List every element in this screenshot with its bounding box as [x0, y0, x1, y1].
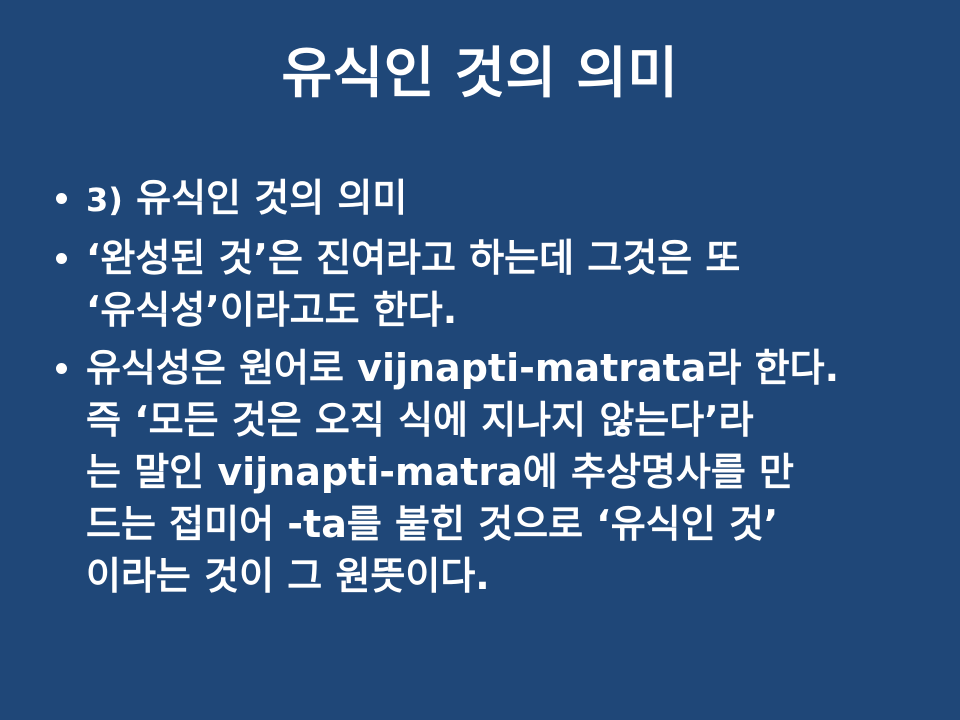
bullet-item-3-content: 유식성은 원어로 vijnapti-matrata라 한다. 즉 ‘모든 것은 …	[86, 342, 920, 602]
bullet-dot-icon	[56, 193, 67, 204]
bullet-dot-icon	[56, 363, 67, 374]
presentation-slide: 유식인 것의 의미 3) 유식인 것의 의미 ‘완성된 것’은 진여라고 하는데…	[0, 0, 960, 720]
bullet-item-2-line-2: ‘유식성’이라고도 한다.	[86, 284, 920, 336]
bullet-item-3-line-3: 는 말인 vijnapti-matra에 추상명사를 만	[86, 446, 920, 498]
bullet-item-3-line-5: 이라는 것이 그 원뜻이다.	[86, 550, 920, 602]
bullet-item-1: 3) 유식인 것의 의미	[40, 172, 920, 226]
bullet-item-1-content: 3) 유식인 것의 의미	[86, 172, 920, 226]
slide-body-bullet-list: 3) 유식인 것의 의미 ‘완성된 것’은 진여라고 하는데 그것은 또 ‘유식…	[40, 172, 920, 602]
bullet-item-1-line-1-text: 유식인 것의 의미	[136, 176, 407, 220]
slide-title: 유식인 것의 의미	[0, 42, 960, 105]
bullet-item-1-line-1: 3) 유식인 것의 의미	[86, 172, 920, 226]
bullet-item-3: 유식성은 원어로 vijnapti-matrata라 한다. 즉 ‘모든 것은 …	[40, 342, 920, 602]
bullet-item-2: ‘완성된 것’은 진여라고 하는데 그것은 또 ‘유식성’이라고도 한다.	[40, 232, 920, 336]
bullet-item-3-line-1: 유식성은 원어로 vijnapti-matrata라 한다.	[86, 342, 920, 394]
bullet-dot-icon	[56, 253, 67, 264]
bullet-item-3-line-4: 드는 접미어 -ta를 붙힌 것으로 ‘유식인 것’	[86, 498, 920, 550]
bullet-item-2-content: ‘완성된 것’은 진여라고 하는데 그것은 또 ‘유식성’이라고도 한다.	[86, 232, 920, 336]
bullet-item-1-number-prefix: 3)	[86, 181, 123, 219]
bullet-item-2-line-1: ‘완성된 것’은 진여라고 하는데 그것은 또	[86, 232, 920, 284]
bullet-item-3-line-2: 즉 ‘모든 것은 오직 식에 지나지 않는다’라	[86, 394, 920, 446]
